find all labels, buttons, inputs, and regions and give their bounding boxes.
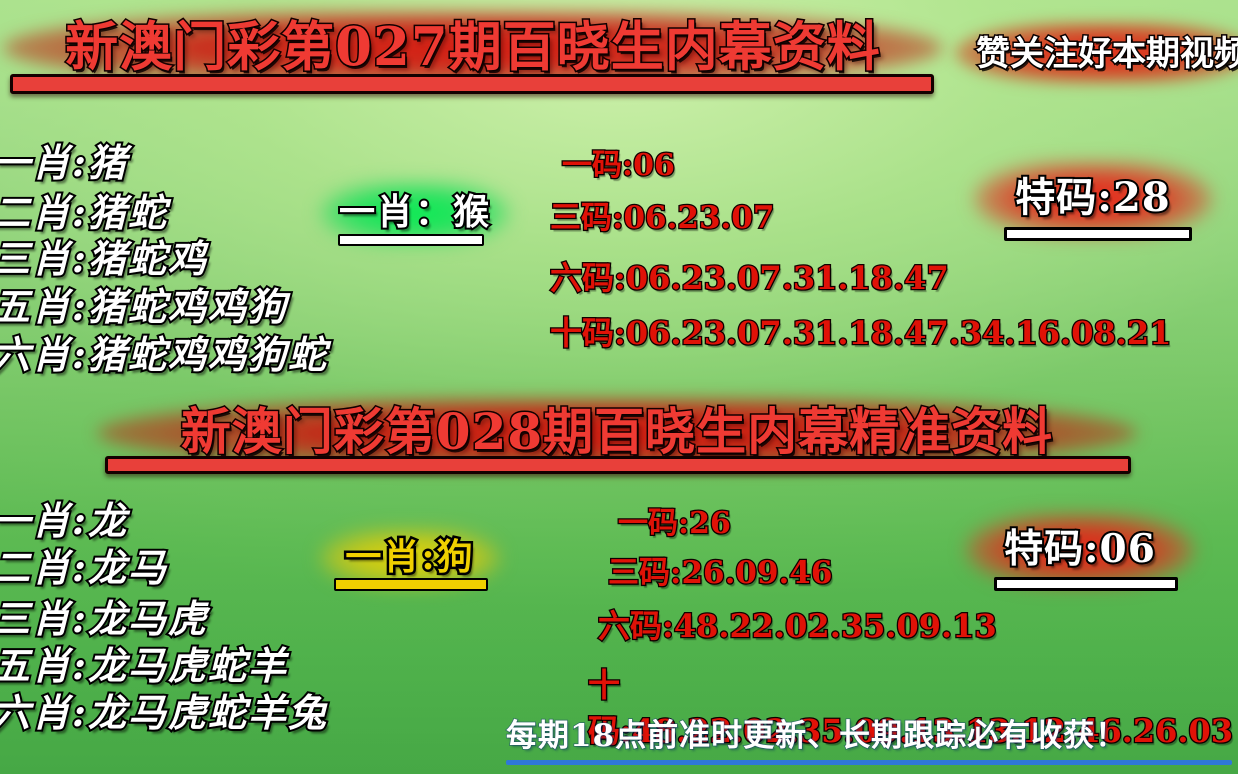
special-028-block: 特码:06 xyxy=(980,524,1180,576)
pick-027-label: 一肖：猴 xyxy=(330,188,500,236)
poster-canvas: 新澳门彩第027期百晓生内幕资料 赞关注好本期视频 一肖:猪 二肖:猪蛇 三肖:… xyxy=(0,0,1238,774)
code-027-three: 三码:06.23.07 xyxy=(550,192,774,237)
pick-028-block: 一肖:狗 xyxy=(330,534,490,582)
section-027-title: 新澳门彩第027期百晓生内幕资料 xyxy=(8,12,938,82)
special-027-underline xyxy=(1004,227,1192,241)
code-028-three: 三码:26.09.46 xyxy=(608,547,832,592)
zodiac-line-027-3: 三肖:猪蛇鸡 xyxy=(0,228,208,283)
section-027-title-underline xyxy=(10,74,934,94)
special-027-block: 特码:28 xyxy=(988,172,1198,226)
code-028-six: 六码:48.22.02.35.09.13 xyxy=(598,601,997,647)
section-028-title: 新澳门彩第028期百晓生内幕精准资料 xyxy=(102,400,1132,464)
pick-027-block: 一肖：猴 xyxy=(330,188,500,238)
pick-027-underline xyxy=(338,234,484,246)
pick-028-underline xyxy=(334,578,488,591)
code-027-ten: 十码:06.23.07.31.18.47.34.16.08.21 xyxy=(550,308,1171,354)
pick-028-label: 一肖:狗 xyxy=(330,534,490,580)
zodiac-line-028-2: 二肖:龙马 xyxy=(0,537,168,592)
code-027-one: 一码:06 xyxy=(562,140,675,184)
zodiac-line-027-6: 六肖:猪蛇鸡鸡狗蛇 xyxy=(0,324,328,379)
section-028-title-underline xyxy=(105,456,1131,474)
zodiac-line-027-5: 五肖:猪蛇鸡鸡狗 xyxy=(0,276,288,331)
special-028-label: 特码:06 xyxy=(980,524,1180,574)
code-027-six: 六码:06.23.07.31.18.47 xyxy=(550,253,949,299)
footer-note: 每期18点前准时更新、长期跟踪必有收获！ xyxy=(506,716,1127,756)
special-027-label: 特码:28 xyxy=(988,172,1198,224)
code-028-one: 一码:26 xyxy=(618,498,731,542)
footer-underline xyxy=(506,760,1232,765)
promo-label: 赞关注好本期视频 xyxy=(976,34,1238,74)
special-028-underline xyxy=(994,577,1178,591)
zodiac-line-027-1: 一肖:猪 xyxy=(0,132,128,187)
zodiac-line-028-6: 六肖:龙马虎蛇羊兔 xyxy=(0,682,328,737)
